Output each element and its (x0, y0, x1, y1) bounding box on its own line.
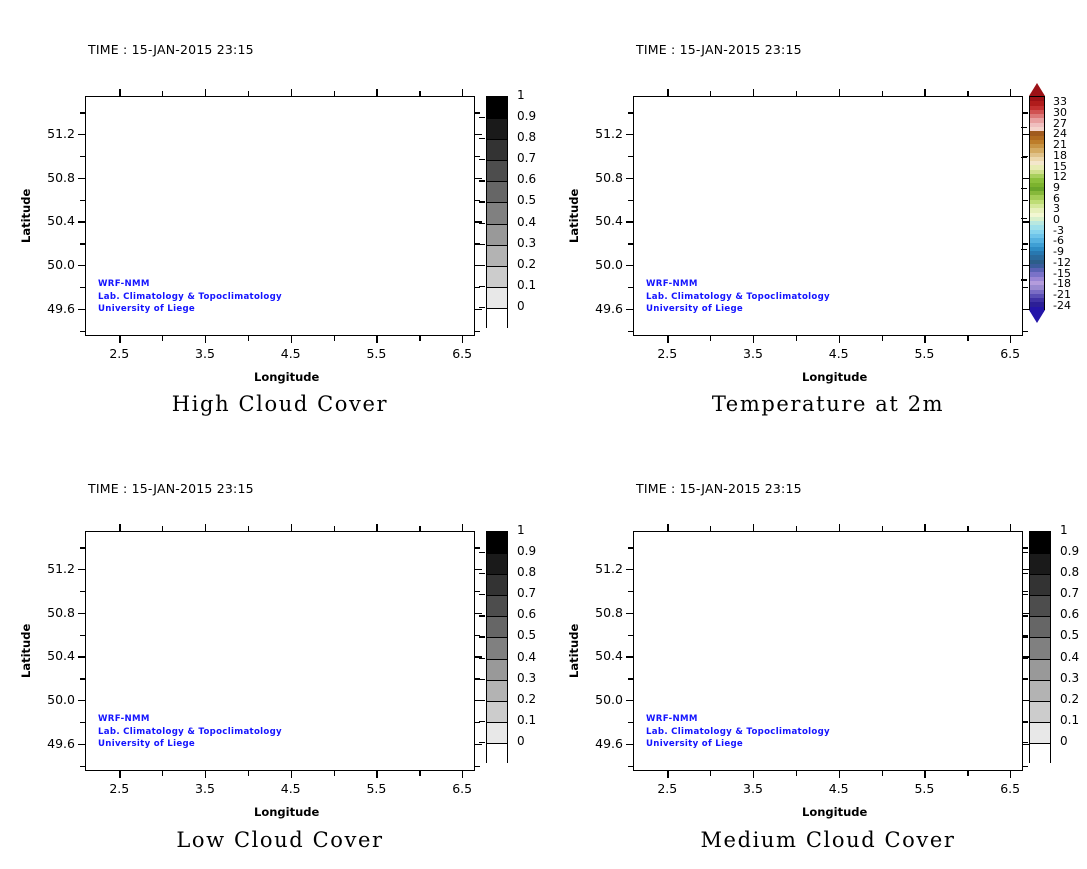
x-axis-tick (967, 336, 968, 341)
colorbar-label: 0.7 (517, 586, 536, 600)
time-label: TIME : 15-JAN-2015 23:15 (88, 481, 254, 496)
y-axis-tick (475, 656, 482, 657)
x-axis-tick (119, 89, 120, 96)
x-axis-tick (667, 89, 668, 96)
colorbar-tick (479, 117, 485, 118)
colorbar-segment (487, 595, 507, 617)
x-axis-tick-label: 4.5 (817, 346, 861, 361)
attribution-line-1: WRF-NMM (646, 713, 830, 726)
colorbar-tick (479, 615, 485, 616)
panel-title: Temperature at 2m (628, 392, 1028, 416)
x-axis-tick (334, 336, 335, 341)
panel-title: High Cloud Cover (80, 392, 480, 416)
y-axis-tick (1023, 613, 1030, 614)
x-axis-tick-label: 4.5 (269, 346, 313, 361)
y-axis-tick (475, 331, 480, 332)
colorbar-segment (1030, 722, 1050, 744)
colorbar-label: -24 (1053, 299, 1071, 312)
x-axis-tick-label: 5.5 (354, 346, 398, 361)
panel-title: Low Cloud Cover (80, 828, 480, 852)
y-axis-tick (1023, 700, 1030, 701)
x-axis-tick (839, 336, 840, 343)
x-axis-tick (205, 89, 206, 96)
y-axis-tick (1023, 547, 1028, 548)
x-axis-tick (119, 771, 120, 778)
colorbar-divider (487, 595, 507, 596)
colorbar-label: 0.6 (517, 172, 536, 186)
y-axis-tick (628, 112, 633, 113)
colorbar-divider (487, 574, 507, 575)
y-axis-tick (78, 134, 85, 135)
colorbar-segment (1030, 574, 1050, 596)
y-axis-tick (475, 221, 482, 222)
colorbar-segment (487, 139, 507, 161)
x-axis-tick (753, 771, 754, 778)
colorbar-divider (1030, 743, 1050, 744)
time-label: TIME : 15-JAN-2015 23:15 (88, 42, 254, 57)
x-axis-tick (291, 771, 292, 778)
colorbar-segment (487, 743, 507, 765)
y-axis-tick (626, 569, 633, 570)
colorbar-tick (479, 180, 485, 181)
y-axis-tick (1023, 678, 1028, 679)
x-axis-tick (462, 771, 463, 778)
colorbar-divider (487, 266, 507, 267)
y-axis-tick (80, 112, 85, 113)
x-axis-tick (162, 91, 163, 96)
x-axis-tick (462, 524, 463, 531)
y-axis-tick (626, 656, 633, 657)
attribution: WRF-NMM Lab. Climatology & Topoclimatolo… (98, 713, 282, 751)
x-axis-tick (334, 91, 335, 96)
x-axis-tick (291, 89, 292, 96)
colorbar-label: 0.1 (1060, 713, 1079, 727)
y-axis-tick (1023, 178, 1030, 179)
colorbar-divider (1030, 701, 1050, 702)
colorbar-divider (487, 659, 507, 660)
colorbar-divider (487, 287, 507, 288)
y-axis-tick (475, 287, 480, 288)
y-axis-tick (78, 700, 85, 701)
y-axis-tick-label: 50.8 (27, 170, 75, 185)
y-axis-tick-label: 50.8 (575, 170, 623, 185)
colorbar-label: 0.2 (517, 692, 536, 706)
colorbar-divider (487, 308, 507, 309)
x-axis-tick (162, 526, 163, 531)
colorbar-label: 0.7 (1060, 586, 1079, 600)
y-axis-tick (628, 722, 633, 723)
colorbar-segment (487, 701, 507, 723)
x-axis-tick (753, 336, 754, 343)
colorbar-label: 0.7 (517, 151, 536, 165)
colorbar-tick (479, 594, 485, 595)
colorbar-label: 0.9 (517, 109, 536, 123)
panel-title: Medium Cloud Cover (628, 828, 1028, 852)
y-axis-tick (475, 112, 480, 113)
x-axis-tick (967, 771, 968, 776)
colorbar-tick (1021, 249, 1027, 250)
y-axis-tick (628, 200, 633, 201)
x-axis-tick (710, 771, 711, 776)
colorbar-segment (487, 659, 507, 681)
x-axis-tick (419, 771, 420, 776)
y-axis-tick (1023, 591, 1028, 592)
colorbar-divider (1030, 680, 1050, 681)
y-axis-tick (1023, 309, 1030, 310)
y-axis-tick (628, 331, 633, 332)
y-axis-tick (1023, 635, 1028, 636)
x-axis-tick-label: 4.5 (817, 781, 861, 796)
x-axis-tick (376, 89, 377, 96)
x-axis-tick (205, 336, 206, 343)
x-axis-tick (882, 771, 883, 776)
colorbar-divider (487, 637, 507, 638)
x-axis-tick (1010, 524, 1011, 531)
colorbar-segment (487, 118, 507, 140)
x-axis-tick (882, 526, 883, 531)
colorbar-tick (479, 159, 485, 160)
colorbar-divider (1030, 659, 1050, 660)
x-axis-tick (839, 524, 840, 531)
y-axis-tick (475, 591, 480, 592)
x-axis-tick-label: 3.5 (731, 346, 775, 361)
colorbar-cap-bottom-icon (1029, 310, 1045, 323)
x-axis-title: Longitude (254, 370, 319, 384)
y-axis-tick (475, 200, 480, 201)
y-axis-tick (475, 678, 480, 679)
attribution-line-2: Lab. Climatology & Topoclimatology (646, 726, 830, 739)
colorbar-segment (487, 181, 507, 203)
colorbar-segment (1030, 659, 1050, 681)
colorbar-body (1029, 531, 1051, 763)
colorbar-segment (1030, 743, 1050, 765)
y-axis-tick-label: 51.2 (575, 126, 623, 141)
x-axis-tick (839, 89, 840, 96)
x-axis-tick (376, 336, 377, 343)
colorbar-divider (1030, 637, 1050, 638)
x-axis-tick (419, 526, 420, 531)
colorbar-divider (487, 202, 507, 203)
colorbar-label: 0.8 (517, 130, 536, 144)
colorbar-segment (1030, 553, 1050, 575)
x-axis-tick (667, 524, 668, 531)
colorbar-label: 0.4 (517, 215, 536, 229)
y-axis-tick (80, 200, 85, 201)
y-axis-tick (1023, 243, 1028, 244)
colorbar-label: 0.5 (1060, 628, 1079, 642)
x-axis-tick (796, 91, 797, 96)
colorbar-segment (487, 616, 507, 638)
x-axis-tick-label: 6.5 (988, 346, 1032, 361)
y-axis-tick (80, 766, 85, 767)
x-axis-tick (796, 526, 797, 531)
x-axis-tick-label: 5.5 (902, 781, 946, 796)
y-axis-tick-label: 50.4 (575, 648, 623, 663)
colorbar-segment (487, 160, 507, 182)
x-axis-title: Longitude (254, 805, 319, 819)
colorbar-divider (1030, 722, 1050, 723)
x-axis-tick (924, 524, 925, 531)
y-axis-tick (626, 700, 633, 701)
colorbar-segment (1030, 616, 1050, 638)
x-axis-tick (334, 526, 335, 531)
x-axis-tick-label: 2.5 (645, 346, 689, 361)
colorbar-label: 0.1 (517, 713, 536, 727)
y-axis-tick (1023, 722, 1028, 723)
y-axis-tick-label: 50.0 (27, 257, 75, 272)
x-axis-tick (924, 89, 925, 96)
y-axis-tick (628, 766, 633, 767)
attribution: WRF-NMM Lab. Climatology & Topoclimatolo… (646, 713, 830, 751)
x-axis-tick (967, 526, 968, 531)
x-axis-tick (248, 526, 249, 531)
y-axis-tick (1023, 200, 1028, 201)
x-axis-tick (710, 91, 711, 96)
x-axis-tick (924, 336, 925, 343)
y-axis-tick-label: 50.0 (575, 692, 623, 707)
y-axis-tick (1023, 265, 1030, 266)
time-label: TIME : 15-JAN-2015 23:15 (636, 42, 802, 57)
y-axis-tick (475, 744, 482, 745)
colorbar-body (486, 96, 508, 328)
colorbar-segment (487, 553, 507, 575)
colorbar-tick (1021, 127, 1027, 128)
x-axis-tick (753, 89, 754, 96)
y-axis-tick (80, 547, 85, 548)
y-axis-tick (628, 156, 633, 157)
colorbar-segment (487, 266, 507, 288)
x-axis-tick (796, 336, 797, 341)
colorbar-label: 0.2 (1060, 692, 1079, 706)
colorbar-label: 0.4 (1060, 650, 1079, 664)
colorbar-divider (1030, 553, 1050, 554)
x-axis-tick (334, 771, 335, 776)
attribution-line-3: University of Liege (646, 738, 830, 751)
colorbar-segment (487, 245, 507, 267)
attribution-line-3: University of Liege (98, 303, 282, 316)
attribution-line-1: WRF-NMM (98, 713, 282, 726)
x-axis-tick (462, 89, 463, 96)
x-axis-tick (796, 771, 797, 776)
y-axis-tick (475, 569, 482, 570)
y-axis-tick (80, 331, 85, 332)
colorbar-divider (487, 160, 507, 161)
attribution: WRF-NMM Lab. Climatology & Topoclimatolo… (98, 278, 282, 316)
y-axis-tick-label: 51.2 (575, 561, 623, 576)
y-axis-tick (626, 309, 633, 310)
y-axis-tick (626, 221, 633, 222)
y-axis-tick (628, 547, 633, 548)
colorbar-divider (487, 224, 507, 225)
colorbar-divider (1030, 574, 1050, 575)
x-axis-tick (1010, 89, 1011, 96)
x-axis-tick (667, 771, 668, 778)
colorbar-divider (487, 701, 507, 702)
x-axis-tick (162, 771, 163, 776)
y-axis-tick (628, 635, 633, 636)
colorbar-label: 0.9 (1060, 544, 1079, 558)
colorbar-segment (487, 722, 507, 744)
y-axis-tick (475, 243, 480, 244)
attribution-line-1: WRF-NMM (646, 278, 830, 291)
x-axis-tick (710, 336, 711, 341)
colorbar-tick (479, 138, 485, 139)
y-axis-tick (1023, 134, 1030, 135)
colorbar-label: 1 (517, 88, 525, 102)
y-axis-tick-label: 49.6 (27, 736, 75, 751)
x-axis-tick (376, 524, 377, 531)
y-axis-tick (1023, 112, 1028, 113)
colorbar-segment (1030, 637, 1050, 659)
y-axis-tick (626, 134, 633, 135)
x-axis-tick (462, 336, 463, 343)
x-axis-tick (924, 771, 925, 778)
colorbar-segment (487, 202, 507, 224)
colorbar-label: 0 (517, 299, 525, 313)
y-axis-tick-label: 50.4 (27, 213, 75, 228)
x-axis-tick (119, 524, 120, 531)
y-axis-tick (80, 678, 85, 679)
x-axis-tick-label: 6.5 (440, 346, 484, 361)
x-axis-tick-label: 6.5 (440, 781, 484, 796)
colorbar-tick (1022, 636, 1028, 637)
colorbar-segment (487, 97, 507, 119)
x-axis-tick (967, 91, 968, 96)
attribution-line-1: WRF-NMM (98, 278, 282, 291)
colorbar-label: 0.6 (517, 607, 536, 621)
y-axis-tick (626, 178, 633, 179)
x-axis-tick-label: 2.5 (97, 346, 141, 361)
x-axis-title: Longitude (802, 370, 867, 384)
colorbar-label: 0 (1060, 734, 1068, 748)
y-axis-tick (80, 635, 85, 636)
y-axis-tick (78, 569, 85, 570)
y-axis-tick (1023, 331, 1028, 332)
y-axis-tick (475, 156, 480, 157)
attribution-line-3: University of Liege (646, 303, 830, 316)
colorbar-segment (487, 287, 507, 309)
colorbar-tick (1021, 218, 1027, 219)
x-axis-tick-label: 3.5 (731, 781, 775, 796)
y-axis-tick-label: 49.6 (575, 301, 623, 316)
attribution-line-2: Lab. Climatology & Topoclimatology (646, 291, 830, 304)
y-axis-tick (1023, 766, 1028, 767)
x-axis-tick (839, 771, 840, 778)
colorbar-label: 0.3 (517, 236, 536, 250)
y-axis-tick (475, 265, 482, 266)
colorbar-tick (1022, 552, 1028, 553)
y-axis-tick (475, 178, 482, 179)
y-axis-tick (1023, 221, 1030, 222)
colorbar-tick (479, 636, 485, 637)
colorbar-tick (1021, 188, 1027, 189)
y-axis-tick (78, 613, 85, 614)
x-axis-tick (667, 336, 668, 343)
colorbar-divider (487, 722, 507, 723)
y-axis-tick-label: 50.4 (27, 648, 75, 663)
y-axis-tick (1023, 287, 1028, 288)
y-axis-tick-label: 50.4 (575, 213, 623, 228)
x-axis-tick-label: 2.5 (645, 781, 689, 796)
x-axis-tick (248, 771, 249, 776)
y-axis-tick (80, 156, 85, 157)
colorbar-label: 0 (517, 734, 525, 748)
x-axis-tick (205, 524, 206, 531)
y-axis-tick (78, 178, 85, 179)
colorbar-divider (487, 553, 507, 554)
y-axis-tick (78, 265, 85, 266)
y-axis-tick-label: 49.6 (575, 736, 623, 751)
colorbar-tick (479, 201, 485, 202)
colorbar-cap-top-icon (1029, 83, 1045, 96)
y-axis-tick (475, 134, 482, 135)
x-axis-tick (205, 771, 206, 778)
x-axis-tick-label: 6.5 (988, 781, 1032, 796)
x-axis-tick (753, 524, 754, 531)
attribution: WRF-NMM Lab. Climatology & Topoclimatolo… (646, 278, 830, 316)
colorbar-divider (1030, 595, 1050, 596)
y-axis-tick (475, 766, 480, 767)
y-axis-tick (626, 744, 633, 745)
y-axis-tick (1023, 569, 1030, 570)
y-axis-tick-label: 51.2 (27, 126, 75, 141)
y-axis-tick-label: 51.2 (27, 561, 75, 576)
time-label: TIME : 15-JAN-2015 23:15 (636, 481, 802, 496)
colorbar-divider (487, 245, 507, 246)
attribution-line-2: Lab. Climatology & Topoclimatology (98, 291, 282, 304)
x-axis-tick (710, 526, 711, 531)
colorbar-segment (487, 680, 507, 702)
x-axis-tick-label: 2.5 (97, 781, 141, 796)
y-axis-tick (628, 287, 633, 288)
colorbar-label: 0.1 (517, 278, 536, 292)
colorbar-segment (487, 308, 507, 330)
x-axis-tick (376, 771, 377, 778)
y-axis-tick (80, 243, 85, 244)
colorbar-segment (1030, 680, 1050, 702)
x-axis-title: Longitude (802, 805, 867, 819)
colorbar-divider (487, 181, 507, 182)
y-axis-tick (475, 722, 480, 723)
colorbar-tick (479, 573, 485, 574)
colorbar-label: 0.9 (517, 544, 536, 558)
y-axis-tick (628, 591, 633, 592)
y-axis-tick (78, 221, 85, 222)
colorbar-label: 0.5 (517, 193, 536, 207)
y-axis-tick (80, 591, 85, 592)
x-axis-tick (882, 91, 883, 96)
colorbar-segment (1030, 307, 1044, 312)
x-axis-tick (419, 91, 420, 96)
colorbar-tick (479, 552, 485, 553)
colorbar-label: 0.6 (1060, 607, 1079, 621)
y-axis-tick-label: 49.6 (27, 301, 75, 316)
x-axis-tick (248, 336, 249, 341)
colorbar-label: 0.8 (517, 565, 536, 579)
colorbar-divider (487, 139, 507, 140)
colorbar-label: 1 (1060, 523, 1068, 537)
y-axis-tick (1023, 156, 1028, 157)
y-axis-tick (80, 722, 85, 723)
colorbar-tick (1022, 615, 1028, 616)
colorbar-divider (1030, 616, 1050, 617)
attribution-line-2: Lab. Climatology & Topoclimatology (98, 726, 282, 739)
y-axis-tick (1023, 744, 1030, 745)
x-axis-tick (291, 336, 292, 343)
colorbar-label: 0.2 (517, 257, 536, 271)
y-axis-tick (78, 744, 85, 745)
x-axis-tick (248, 91, 249, 96)
